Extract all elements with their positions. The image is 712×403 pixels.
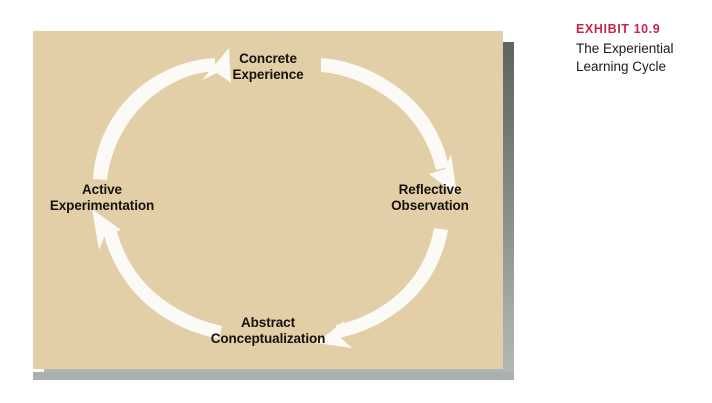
experiential-learning-cycle-diagram: Concrete Experience Reflective Observati… [33, 31, 503, 369]
exhibit-number: EXHIBIT 10.9 [576, 22, 708, 36]
panel-drop-shadow-bottom [33, 372, 514, 380]
node-label-line-1: Abstract [185, 315, 351, 331]
node-label-concrete-experience: Concrete Experience [193, 51, 343, 83]
node-label-line-1: Reflective [357, 182, 503, 198]
node-label-line-2: Experience [193, 67, 343, 83]
node-label-line-2: Experimentation [29, 198, 175, 214]
node-label-reflective-observation: Reflective Observation [357, 182, 503, 214]
exhibit-title: The Experiential Learning Cycle [576, 40, 708, 76]
exhibit-figure: Concrete Experience Reflective Observati… [33, 31, 511, 374]
figure-background-panel: Concrete Experience Reflective Observati… [33, 31, 503, 369]
node-label-line-1: Active [29, 182, 175, 198]
node-label-line-2: Conceptualization [185, 331, 351, 347]
node-label-line-2: Observation [357, 198, 503, 214]
node-label-line-1: Concrete [193, 51, 343, 67]
exhibit-caption-block: EXHIBIT 10.9 The Experiential Learning C… [576, 22, 708, 76]
node-label-active-experimentation: Active Experimentation [29, 182, 175, 214]
node-label-abstract-conceptualization: Abstract Conceptualization [185, 315, 351, 347]
